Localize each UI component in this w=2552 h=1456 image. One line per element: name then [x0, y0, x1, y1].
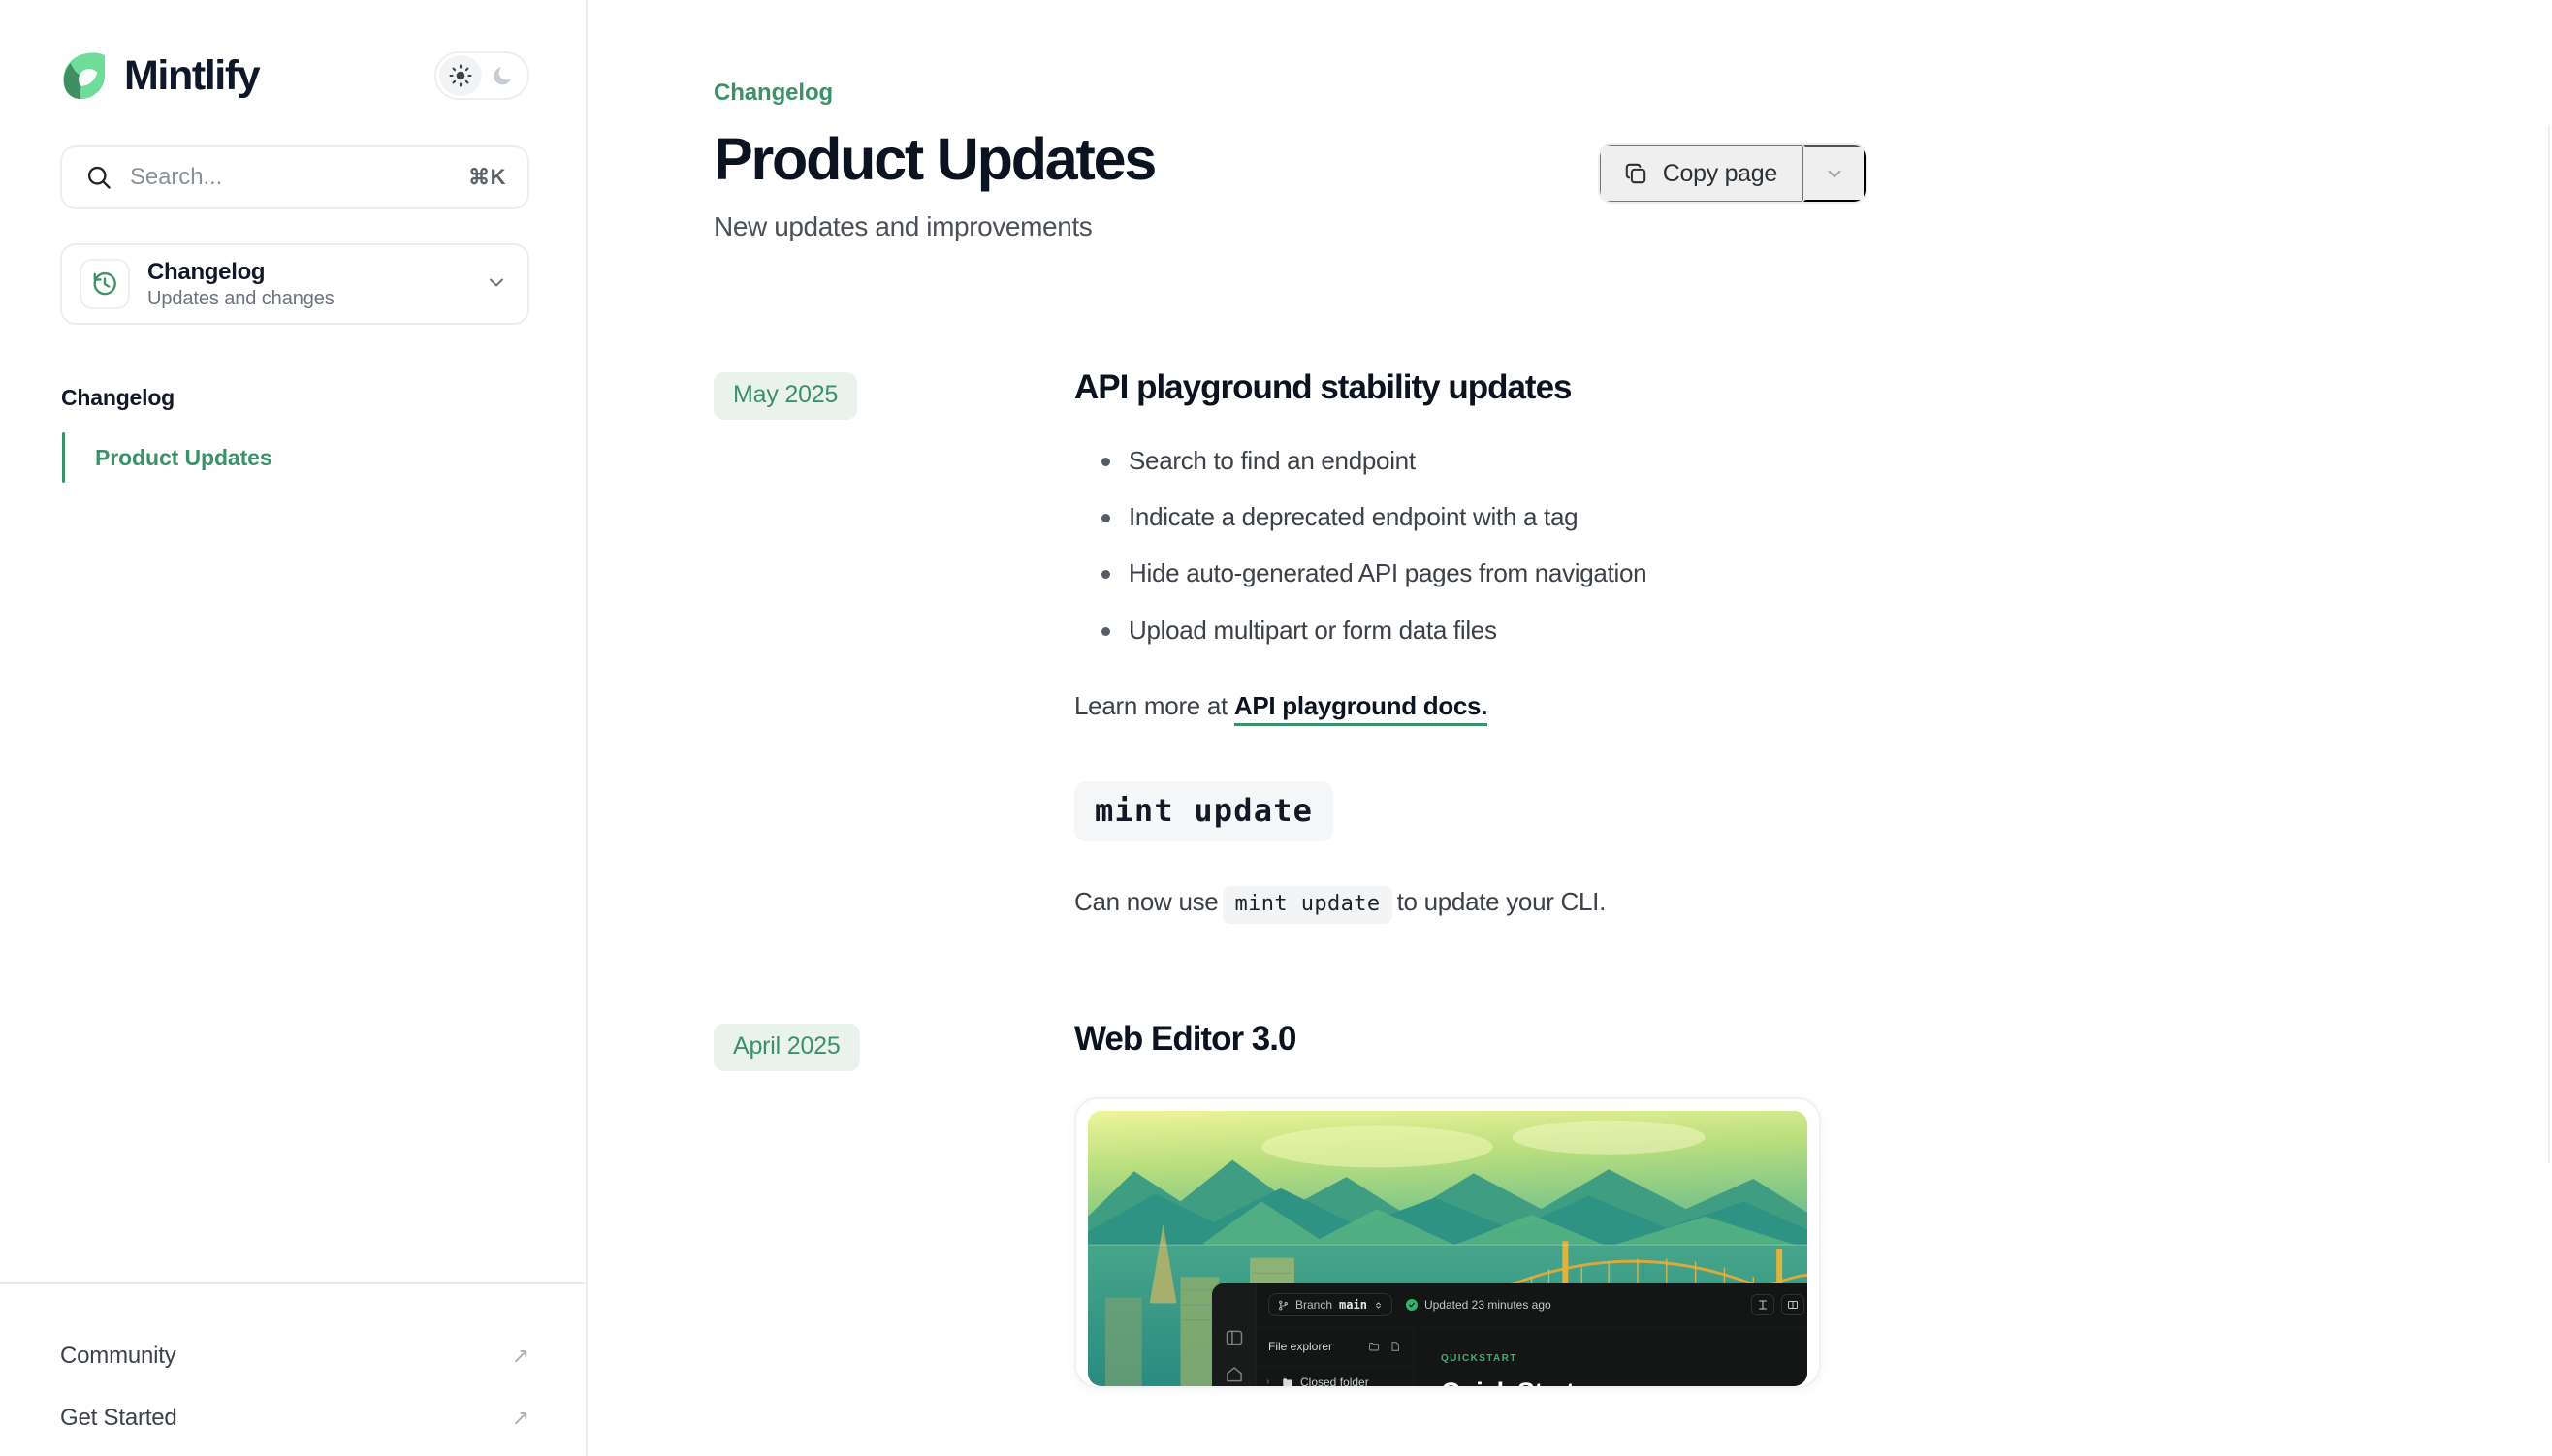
file-name: Closed folder — [1300, 1376, 1369, 1386]
branch-label: Branch — [1295, 1298, 1332, 1312]
search-icon — [85, 164, 112, 191]
brand-name: Mintlify — [124, 55, 259, 97]
editor-columns: File explorer — [1257, 1328, 1807, 1386]
chevron-updown-icon — [1374, 1301, 1383, 1310]
page-subtitle: New updates and improvements — [714, 211, 1858, 242]
copy-icon — [1623, 161, 1648, 186]
entry-date-column: May 2025 — [714, 368, 1074, 917]
search-placeholder: Search... — [130, 164, 451, 191]
paragraph-before: Can now use — [1074, 887, 1218, 916]
branch-selector[interactable]: Branch main — [1268, 1293, 1392, 1316]
git-branch-icon — [1278, 1300, 1289, 1311]
footer-link-label: Community — [60, 1343, 176, 1370]
toc-list: May 2025 April 2025 March 2025 February … — [2548, 125, 2552, 1163]
doc-title: Quick Start — [1441, 1377, 1807, 1386]
entry-body: API playground stability updates Search … — [1074, 368, 1858, 917]
doc-column: Changelog Product Updates New updates an… — [714, 0, 1858, 1388]
entry-bullet-list: Search to find an endpoint Indicate a de… — [1074, 444, 1858, 647]
brand-row: Mintlify — [60, 50, 529, 101]
editor-icon-rail — [1212, 1283, 1257, 1386]
left-sidebar: Mintlify — [0, 0, 588, 1456]
list-item: Hide auto-generated API pages from navig… — [1074, 556, 1858, 590]
sidebar-item-label: Product Updates — [95, 445, 272, 471]
product-switcher-texts: Changelog Updates and changes — [147, 259, 467, 310]
sidebar-nav-group: Changelog Product Updates — [60, 385, 529, 485]
mintlify-leaf-logo-icon — [60, 50, 109, 101]
list-item[interactable]: › Closed folder — [1257, 1367, 1413, 1386]
file-explorer-title: File explorer — [1268, 1340, 1332, 1353]
sun-icon — [449, 64, 472, 87]
branch-name: main — [1339, 1298, 1367, 1312]
footer-link-community[interactable]: Community ↗ — [60, 1325, 529, 1387]
active-rail — [62, 432, 65, 483]
external-link-arrow-icon: ↗ — [512, 1408, 529, 1429]
check-circle-icon — [1406, 1299, 1418, 1311]
entry-heading: Web Editor 3.0 — [1074, 1020, 1858, 1059]
date-badge[interactable]: May 2025 — [714, 372, 857, 420]
sidebar-item-product-updates[interactable]: Product Updates — [62, 430, 529, 485]
copy-page-button[interactable]: Copy page — [1600, 145, 1803, 202]
changelog-entry: May 2025 API playground stability update… — [714, 368, 1858, 917]
text-format-icon[interactable] — [1751, 1294, 1774, 1315]
product-switcher-subtitle: Updates and changes — [147, 288, 467, 310]
web-editor-window: Branch main — [1212, 1283, 1807, 1386]
web-editor-screenshot: Branch main — [1074, 1097, 1821, 1388]
update-status-text: Updated 23 minutes ago — [1424, 1298, 1551, 1312]
paragraph-after: to update your CLI. — [1397, 887, 1606, 916]
learn-more-paragraph: Learn more at API playground docs. — [1074, 691, 1858, 721]
editor-topbar: Branch main — [1257, 1283, 1807, 1328]
file-explorer-header: File explorer — [1257, 1328, 1413, 1367]
new-folder-icon[interactable] — [1368, 1341, 1380, 1352]
editor-document-preview: QUICKSTART Quick Start — [1414, 1328, 1807, 1386]
main-content: Changelog Product Updates New updates an… — [588, 0, 2552, 1456]
copy-page-dropdown-button[interactable] — [1803, 145, 1866, 202]
toc-header: On this page — [2548, 79, 2552, 108]
screenshot-canvas: Branch main — [1088, 1111, 1807, 1386]
api-playground-docs-link[interactable]: API playground docs. — [1234, 691, 1487, 726]
breadcrumb[interactable]: Changelog — [714, 79, 1858, 107]
home-icon[interactable] — [1225, 1365, 1244, 1384]
date-badge[interactable]: April 2025 — [714, 1024, 860, 1071]
changelog-entry: April 2025 Web Editor 3.0 — [714, 1020, 1858, 1388]
on-this-page-toc: On this page May 2025 April 2025 March 2… — [2548, 0, 2552, 1456]
learn-more-prefix: Learn more at — [1074, 691, 1234, 720]
sidebar-footer: Community ↗ Get Started ↗ — [0, 1282, 586, 1456]
history-clock-icon — [80, 259, 130, 309]
inline-code: mint update — [1223, 886, 1391, 924]
folder-icon — [1282, 1377, 1293, 1386]
product-switcher-title: Changelog — [147, 259, 467, 286]
sidebar-top: Mintlify — [0, 0, 586, 485]
sidebar-group-title: Changelog — [60, 385, 529, 411]
list-item: Search to find an endpoint — [1074, 444, 1858, 478]
entry-heading: API playground stability updates — [1074, 368, 1858, 407]
theme-toggle-light[interactable] — [439, 55, 482, 96]
update-status: Updated 23 minutes ago — [1406, 1298, 1551, 1312]
list-item: Upload multipart or form data files — [1074, 614, 1858, 648]
footer-link-get-started[interactable]: Get Started ↗ — [60, 1387, 529, 1449]
layout-icon[interactable] — [1781, 1294, 1804, 1315]
chevron-down-icon — [1824, 163, 1845, 184]
entry-code-heading: mint update — [1074, 781, 1333, 841]
theme-toggle[interactable] — [434, 51, 529, 100]
documentation-page: Mintlify — [0, 0, 2552, 1456]
brand-logo[interactable]: Mintlify — [60, 50, 259, 101]
search-input[interactable]: Search... ⌘K — [60, 145, 529, 209]
moon-icon — [492, 64, 515, 87]
doc-eyebrow: QUICKSTART — [1441, 1353, 1807, 1364]
copy-page-label: Copy page — [1663, 160, 1777, 188]
entry-date-column: April 2025 — [714, 1020, 1074, 1388]
product-switcher[interactable]: Changelog Updates and changes — [60, 243, 529, 325]
external-link-arrow-icon: ↗ — [512, 1345, 529, 1367]
panel-toggle-icon[interactable] — [1225, 1328, 1244, 1347]
new-file-icon[interactable] — [1389, 1341, 1401, 1352]
editor-toolbar — [1751, 1294, 1807, 1315]
file-explorer-actions — [1368, 1341, 1401, 1352]
footer-link-label: Get Started — [60, 1405, 177, 1432]
chevron-down-icon — [485, 270, 508, 299]
copy-page-group: Copy page — [1598, 143, 1867, 204]
theme-toggle-dark[interactable] — [482, 55, 525, 96]
entry-paragraph: Can now usemint updateto update your CLI… — [1074, 887, 1858, 917]
chevron-right-icon: › — [1266, 1377, 1275, 1386]
search-shortcut: ⌘K — [468, 165, 506, 190]
editor-main: Branch main — [1257, 1283, 1807, 1386]
list-item: Indicate a deprecated endpoint with a ta… — [1074, 500, 1858, 534]
file-explorer-panel: File explorer — [1257, 1328, 1414, 1386]
sidebar-nav-items: Product Updates — [60, 430, 529, 485]
entry-body: Web Editor 3.0 — [1074, 1020, 1858, 1388]
